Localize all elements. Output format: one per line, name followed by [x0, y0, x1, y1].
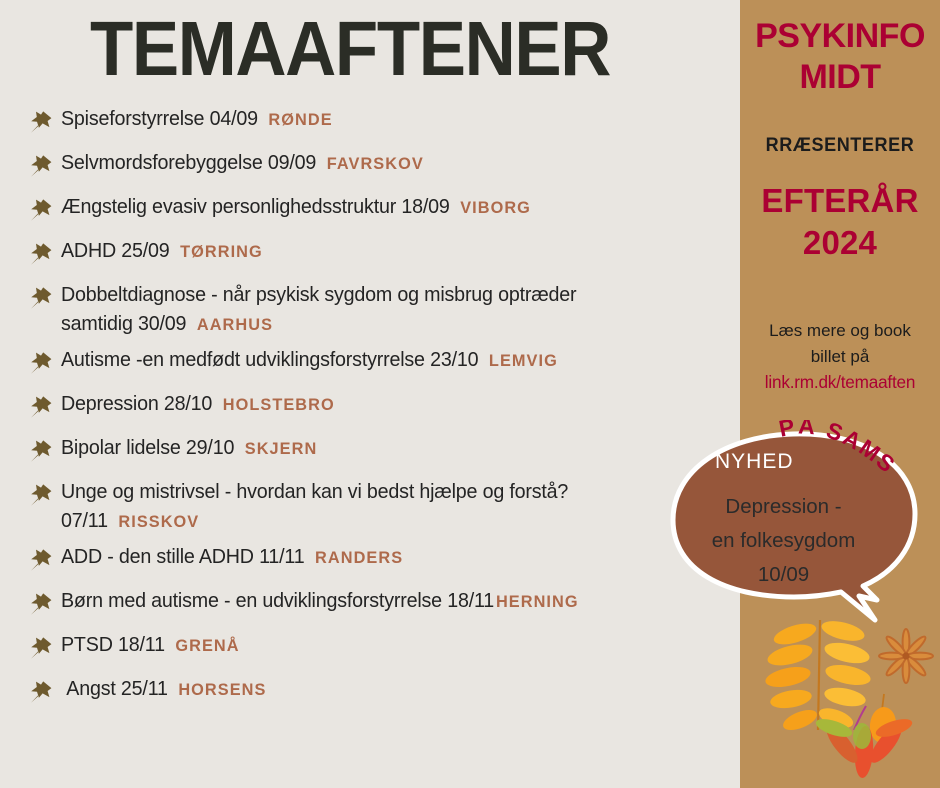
pushpin-icon — [28, 591, 54, 617]
main-column: TEMAAFTENER Spiseforstyrrelse 04/09RØNDE… — [0, 0, 740, 788]
booking-line-1: Læs mere og book — [744, 318, 936, 344]
page-title: TEMAAFTENER — [28, 6, 672, 92]
event-text: Dobbeltdiagnose - når psykisk sygdom og … — [61, 280, 627, 339]
brand-name: PSYKINFO MIDT — [740, 16, 940, 98]
list-item[interactable]: Bipolar lidelse 29/10SKJERN — [0, 433, 740, 471]
event-text: Bipolar lidelse 29/10SKJERN — [61, 433, 317, 463]
list-item[interactable]: ADHD 25/09TØRRING — [0, 236, 740, 274]
list-item[interactable]: ADD - den stille ADHD 11/11RANDERS — [0, 542, 740, 580]
news-speech-bubble: NYHED Depression - en folkesygdom 10/09 … — [663, 424, 940, 644]
list-item[interactable]: Autisme -en medfødt udviklingsforstyrrel… — [0, 345, 740, 383]
event-text: Unge og mistrivsel - hvordan kan vi beds… — [61, 477, 613, 536]
event-title: Bipolar lidelse 29/10 — [61, 436, 234, 459]
event-city: VIBORG — [460, 198, 531, 217]
event-city: HOLSTEBRO — [223, 395, 335, 414]
list-item[interactable]: Spiseforstyrrelse 04/09RØNDE — [0, 104, 740, 142]
season-line-2: 2024 — [740, 222, 940, 264]
bubble-text-layer: NYHED Depression - en folkesygdom 10/09 … — [663, 424, 940, 644]
pushpin-icon — [28, 482, 54, 508]
event-city: RISSKOV — [118, 512, 199, 531]
booking-link[interactable]: link.rm.dk/temaaften — [742, 372, 938, 393]
event-title: PTSD 18/11 — [61, 633, 165, 656]
list-item[interactable]: Ængstelig evasiv personlighedsstruktur 1… — [0, 192, 740, 230]
pa-samso-text: PÅ SAMSØ — [773, 420, 901, 479]
event-text: PTSD 18/11GRENÅ — [61, 630, 240, 660]
pushpin-icon — [28, 394, 54, 420]
event-text: Børn med autisme - en udviklingsforstyrr… — [61, 586, 579, 616]
event-city: AARHUS — [197, 315, 273, 334]
event-city: GRENÅ — [175, 636, 239, 655]
event-list: Spiseforstyrrelse 04/09RØNDE Selvmordsfo… — [0, 104, 740, 718]
pushpin-icon — [28, 350, 54, 376]
list-item[interactable]: Selvmordsforebyggelse 09/09FAVRSKOV — [0, 148, 740, 186]
pushpin-icon — [28, 285, 54, 311]
list-item[interactable]: Depression 28/10HOLSTEBRO — [0, 389, 740, 427]
brand-line-2: MIDT — [740, 57, 940, 98]
event-text: Ængstelig evasiv personlighedsstruktur 1… — [61, 192, 531, 222]
booking-line-2: billet på — [744, 344, 936, 370]
rowan-leaf-icon — [764, 617, 873, 734]
booking-info: Læs mere og book billet på — [744, 318, 936, 370]
event-city: HERNING — [496, 592, 579, 611]
event-title: Ængstelig evasiv personlighedsstruktur 1… — [61, 195, 450, 218]
poster-canvas: TEMAAFTENER Spiseforstyrrelse 04/09RØNDE… — [0, 0, 940, 788]
event-text: Autisme -en medfødt udviklingsforstyrrel… — [61, 345, 558, 375]
event-title: Spiseforstyrrelse 04/09 — [61, 107, 258, 130]
event-title: Angst 25/11 — [66, 677, 167, 700]
pushpin-icon — [28, 679, 54, 705]
autumn-leaves-decoration — [748, 612, 940, 788]
event-title: ADHD 25/09 — [61, 239, 170, 262]
event-city: LEMVIG — [489, 351, 558, 370]
event-title: Depression 28/10 — [61, 392, 212, 415]
season-label: EFTERÅR 2024 — [740, 180, 940, 264]
event-city: SKJERN — [245, 439, 318, 458]
brand-line-1: PSYKINFO — [740, 16, 940, 57]
list-item[interactable]: PTSD 18/11GRENÅ — [0, 630, 740, 668]
event-text: Angst 25/11HORSENS — [61, 674, 266, 704]
event-title: ADD - den stille ADHD 11/11 — [61, 545, 304, 568]
svg-text:PÅ SAMSØ: PÅ SAMSØ — [773, 420, 901, 479]
event-city: TØRRING — [180, 242, 263, 261]
event-title: Selvmordsforebyggelse 09/09 — [61, 151, 316, 174]
event-title: Børn med autisme - en udviklingsforstyrr… — [61, 589, 494, 612]
event-title: Dobbeltdiagnose - når psykisk sygdom og … — [61, 283, 576, 335]
season-line-1: EFTERÅR — [740, 180, 940, 222]
list-item[interactable]: Unge og mistrivsel - hvordan kan vi beds… — [0, 477, 740, 536]
pushpin-icon — [28, 241, 54, 267]
pa-samso-curved-label: PÅ SAMSØ — [773, 420, 940, 530]
event-city: FAVRSKOV — [327, 154, 424, 173]
presents-label: RRÆSENTERER — [745, 135, 935, 157]
list-item[interactable]: Angst 25/11HORSENS — [0, 674, 740, 712]
event-text: ADD - den stille ADHD 11/11RANDERS — [61, 542, 403, 572]
event-city: HORSENS — [178, 680, 266, 699]
event-city: RØNDE — [268, 110, 332, 129]
pushpin-icon — [28, 109, 54, 135]
list-item[interactable]: Dobbeltdiagnose - når psykisk sygdom og … — [0, 280, 740, 339]
event-text: ADHD 25/09TØRRING — [61, 236, 263, 266]
bubble-line-3: 10/09 — [681, 558, 886, 592]
pushpin-icon — [28, 438, 54, 464]
pushpin-icon — [28, 197, 54, 223]
star-anise-icon — [879, 629, 933, 683]
list-item[interactable]: Børn med autisme - en udviklingsforstyrr… — [0, 586, 740, 624]
event-text: Depression 28/10HOLSTEBRO — [61, 389, 335, 419]
event-text: Selvmordsforebyggelse 09/09FAVRSKOV — [61, 148, 424, 178]
event-title: Autisme -en medfødt udviklingsforstyrrel… — [61, 348, 478, 371]
pushpin-icon — [28, 547, 54, 573]
pushpin-icon — [28, 153, 54, 179]
event-city: RANDERS — [315, 548, 403, 567]
event-text: Spiseforstyrrelse 04/09RØNDE — [61, 104, 333, 134]
pushpin-icon — [28, 635, 54, 661]
